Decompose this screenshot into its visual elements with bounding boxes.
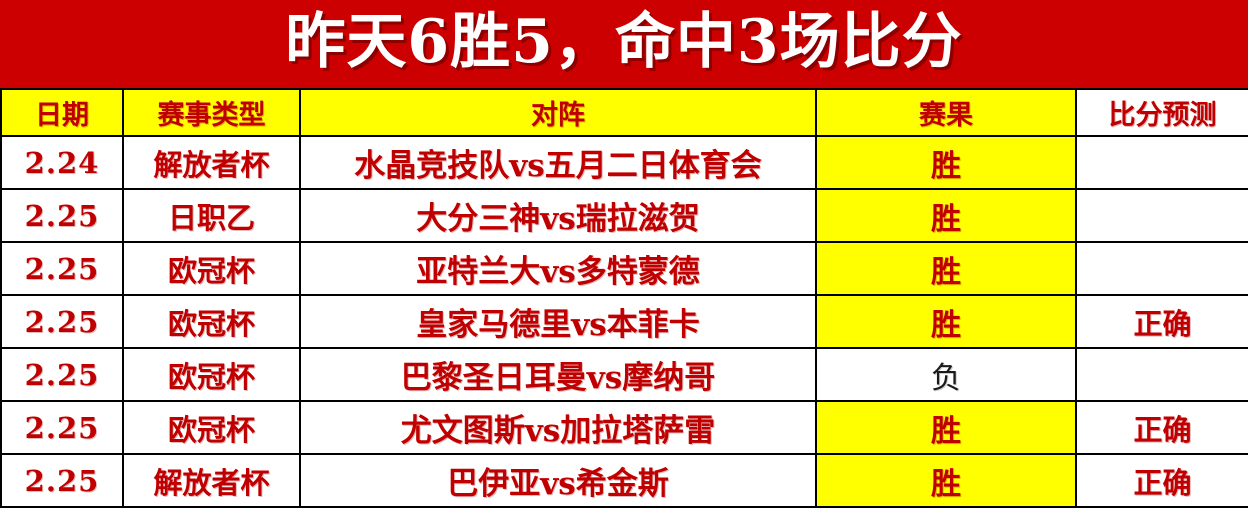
column-header-date: 日期 bbox=[1, 89, 123, 136]
cell-result: 胜 bbox=[816, 136, 1076, 189]
table-body: 2.24解放者杯水晶竞技队vs五月二日体育会胜2.25日职乙大分三神vs瑞拉滋贺… bbox=[1, 136, 1248, 507]
cell-date: 2.25 bbox=[1, 242, 123, 295]
cell-predict bbox=[1076, 136, 1248, 189]
table-row: 2.25欧冠杯亚特兰大vs多特蒙德胜 bbox=[1, 242, 1248, 295]
cell-predict: 正确 bbox=[1076, 454, 1248, 507]
cell-match: 尤文图斯vs加拉塔萨雷 bbox=[300, 401, 816, 454]
cell-match: 皇家马德里vs本菲卡 bbox=[300, 295, 816, 348]
table-header: 日期 赛事类型 对阵 赛果 比分预测 bbox=[1, 89, 1248, 136]
table-row: 2.25解放者杯巴伊亚vs希金斯胜正确 bbox=[1, 454, 1248, 507]
cell-league: 解放者杯 bbox=[123, 136, 300, 189]
cell-predict bbox=[1076, 242, 1248, 295]
header-banner: 昨天6胜5，命中3场比分 bbox=[0, 0, 1248, 88]
cell-match: 巴黎圣日耳曼vs摩纳哥 bbox=[300, 348, 816, 401]
cell-league: 欧冠杯 bbox=[123, 242, 300, 295]
cell-date: 2.25 bbox=[1, 454, 123, 507]
cell-match: 大分三神vs瑞拉滋贺 bbox=[300, 189, 816, 242]
cell-match: 亚特兰大vs多特蒙德 bbox=[300, 242, 816, 295]
cell-result: 胜 bbox=[816, 242, 1076, 295]
match-results-table: 日期 赛事类型 对阵 赛果 比分预测 2.24解放者杯水晶竞技队vs五月二日体育… bbox=[0, 88, 1248, 508]
column-header-league: 赛事类型 bbox=[123, 89, 300, 136]
cell-result: 胜 bbox=[816, 295, 1076, 348]
cell-match: 巴伊亚vs希金斯 bbox=[300, 454, 816, 507]
cell-predict bbox=[1076, 348, 1248, 401]
cell-match: 水晶竞技队vs五月二日体育会 bbox=[300, 136, 816, 189]
page-root: 昨天6胜5，命中3场比分 日期 赛事类型 对阵 赛果 比分预测 2.24解放者杯… bbox=[0, 0, 1248, 506]
cell-predict: 正确 bbox=[1076, 295, 1248, 348]
banner-title: 昨天6胜5，命中3场比分 bbox=[285, 12, 962, 72]
cell-predict bbox=[1076, 189, 1248, 242]
cell-league: 欧冠杯 bbox=[123, 401, 300, 454]
column-header-match: 对阵 bbox=[300, 89, 816, 136]
cell-league: 日职乙 bbox=[123, 189, 300, 242]
cell-date: 2.25 bbox=[1, 401, 123, 454]
cell-date: 2.24 bbox=[1, 136, 123, 189]
cell-result: 胜 bbox=[816, 189, 1076, 242]
cell-date: 2.25 bbox=[1, 348, 123, 401]
cell-result: 负 bbox=[816, 348, 1076, 401]
cell-date: 2.25 bbox=[1, 295, 123, 348]
table-row: 2.24解放者杯水晶竞技队vs五月二日体育会胜 bbox=[1, 136, 1248, 189]
cell-predict: 正确 bbox=[1076, 401, 1248, 454]
cell-result: 胜 bbox=[816, 454, 1076, 507]
table-header-row: 日期 赛事类型 对阵 赛果 比分预测 bbox=[1, 89, 1248, 136]
cell-date: 2.25 bbox=[1, 189, 123, 242]
table-row: 2.25欧冠杯尤文图斯vs加拉塔萨雷胜正确 bbox=[1, 401, 1248, 454]
cell-league: 解放者杯 bbox=[123, 454, 300, 507]
cell-league: 欧冠杯 bbox=[123, 295, 300, 348]
column-header-predict: 比分预测 bbox=[1076, 89, 1248, 136]
column-header-result: 赛果 bbox=[816, 89, 1076, 136]
table-row: 2.25欧冠杯皇家马德里vs本菲卡胜正确 bbox=[1, 295, 1248, 348]
cell-result: 胜 bbox=[816, 401, 1076, 454]
table-row: 2.25日职乙大分三神vs瑞拉滋贺胜 bbox=[1, 189, 1248, 242]
table-row: 2.25欧冠杯巴黎圣日耳曼vs摩纳哥负 bbox=[1, 348, 1248, 401]
cell-league: 欧冠杯 bbox=[123, 348, 300, 401]
